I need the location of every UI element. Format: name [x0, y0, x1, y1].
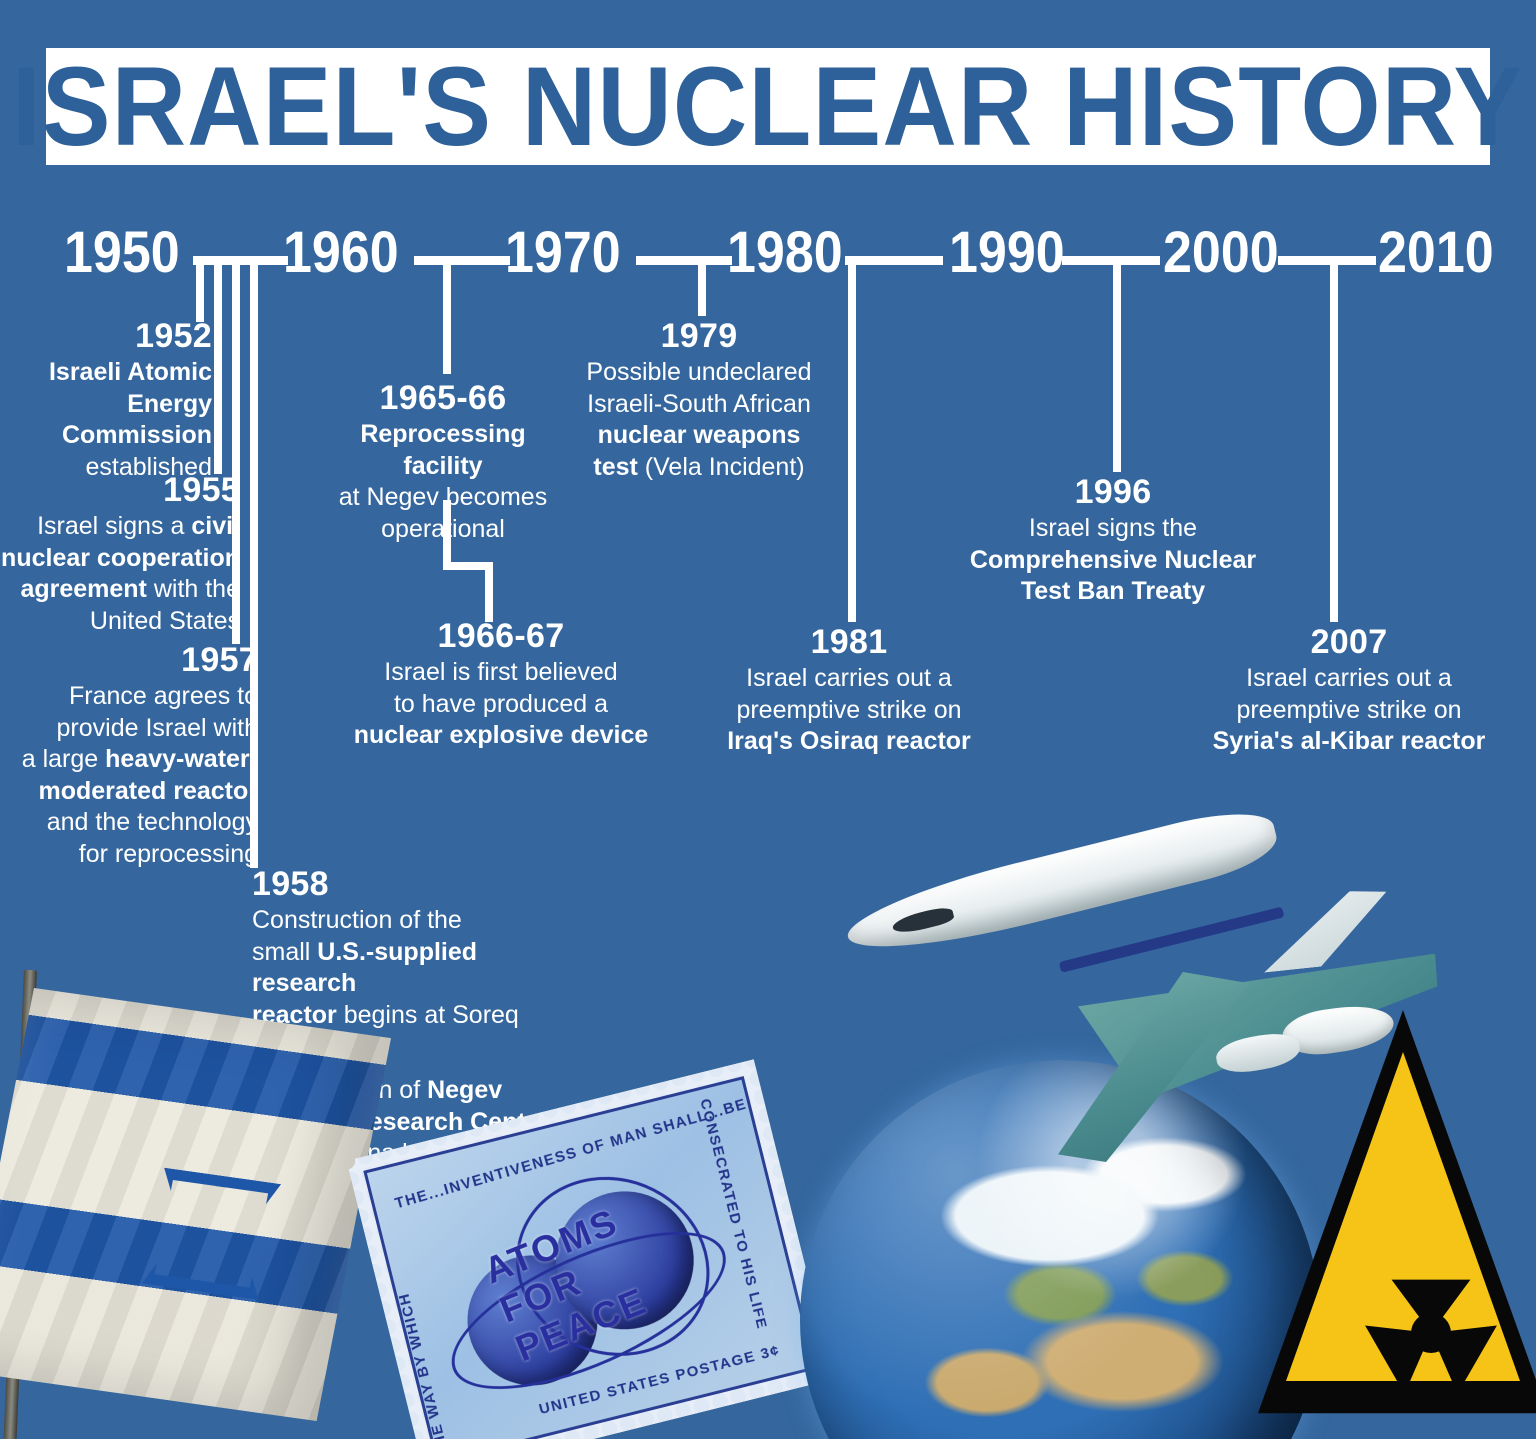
event-1981-desc: Israel carries out a preemptive strike o…	[722, 663, 976, 758]
event-1996-l1: Israel signs the	[1029, 514, 1197, 542]
event-1981-l3: Iraq's Osiraq reactor	[727, 727, 971, 755]
event-1955-desc: Israel signs a civil nuclear cooperation…	[0, 511, 240, 637]
jet-fuselage	[841, 800, 1283, 967]
event-2007-year: 2007	[1204, 622, 1494, 662]
event-1996: 1996 Israel signs the Comprehensive Nucl…	[962, 472, 1264, 608]
event-1955: 1955 Israel signs a civil nuclear cooper…	[0, 470, 240, 637]
axis-year-1950: 1950	[64, 224, 180, 282]
event-1957-l3-bold: heavy-water-	[105, 745, 258, 773]
event-1955-l4: United States	[90, 607, 240, 635]
axis-year-1980: 1980	[727, 224, 843, 282]
drop-line-1996	[1113, 256, 1121, 472]
star-of-david-icon	[134, 1156, 271, 1286]
event-1957-l4: moderated reactor	[38, 777, 258, 805]
event-1955-l2: nuclear cooperation	[1, 544, 240, 572]
event-1979-l4-bold: test	[593, 453, 637, 481]
event-2007: 2007 Israel carries out a preemptive str…	[1204, 622, 1494, 758]
axis-segment-1960-1970	[414, 256, 510, 265]
event-1979-l3: nuclear weapons	[598, 421, 801, 449]
event-1965-66-l3: operational	[381, 515, 505, 543]
event-1952-desc: Israeli Atomic Energy Commission establi…	[0, 357, 212, 483]
axis-segment-1990-2000	[1062, 256, 1160, 265]
radiation-warning-sign-icon	[1258, 1010, 1536, 1439]
radiation-triangle-fill	[1286, 1052, 1520, 1402]
axis-segment-1950-1960	[193, 256, 288, 265]
event-1958-p2-l1-bold: Negev	[427, 1076, 502, 1104]
infographic-canvas: ISRAEL'S NUCLEAR HISTORY 1950 1960 1970 …	[0, 0, 1536, 1439]
drop-line-2007	[1330, 256, 1338, 622]
event-1996-desc: Israel signs the Comprehensive Nuclear T…	[962, 513, 1264, 608]
axis-year-1960: 1960	[283, 224, 399, 282]
event-1952-year: 1952	[0, 316, 212, 356]
event-1996-year: 1996	[962, 472, 1264, 512]
axis-year-2000: 2000	[1163, 224, 1279, 282]
event-1981-year: 1981	[722, 622, 976, 662]
event-1952-line1: Israeli Atomic	[49, 358, 212, 386]
event-1955-l1-plain: Israel signs a	[37, 512, 191, 540]
event-1979-l2: Israeli-South African	[587, 390, 811, 418]
event-2007-l1: Israel carries out a	[1246, 664, 1452, 692]
event-1996-l2: Comprehensive Nuclear	[970, 546, 1256, 574]
event-1979-l1: Possible undeclared	[586, 358, 811, 386]
event-2007-desc: Israel carries out a preemptive strike o…	[1204, 663, 1494, 758]
event-1955-l3-bold: agreement	[20, 575, 146, 603]
event-1952: 1952 Israeli Atomic Energy Commission es…	[0, 316, 212, 483]
axis-year-1990: 1990	[949, 224, 1065, 282]
event-1958-l1: Construction of the	[252, 906, 462, 934]
event-1966-67-l3: nuclear explosive device	[354, 721, 649, 749]
trefoil-hub	[1411, 1313, 1451, 1353]
event-1952-line2: Energy Commission	[62, 390, 212, 450]
event-1958-year: 1958	[252, 864, 582, 904]
drop-line-1979	[698, 256, 706, 316]
drop-line-1965	[443, 256, 451, 374]
axis-segment-2000-2010	[1278, 256, 1376, 265]
event-1957-l5: and the technology	[47, 808, 258, 836]
event-1966-67-l1: Israel is first believed	[384, 658, 617, 686]
event-1966-67-year: 1966-67	[348, 616, 654, 656]
event-1966-67-desc: Israel is first believed to have produce…	[348, 657, 654, 752]
flag-cloth	[0, 988, 391, 1421]
event-2007-l2: preemptive strike on	[1236, 696, 1461, 724]
event-1979-year: 1979	[580, 316, 818, 356]
axis-segment-1970-1980	[636, 256, 732, 265]
event-1965-66-l2: at Negev becomes	[339, 483, 547, 511]
jet-tailplane	[1257, 887, 1394, 972]
axis-year-1970: 1970	[505, 224, 621, 282]
axis-year-2010: 2010	[1378, 224, 1494, 282]
event-1981: 1981 Israel carries out a preemptive str…	[722, 622, 976, 758]
event-1966-67: 1966-67 Israel is first believed to have…	[348, 616, 654, 752]
event-1965-66-desc: Reprocessing facility at Negev becomes o…	[318, 419, 568, 545]
event-1957-l2: provide Israel with	[57, 714, 258, 742]
event-1957-year: 1957	[0, 640, 258, 680]
event-1955-l1-bold: civil	[191, 512, 240, 540]
event-1955-l3-plain: with the	[147, 575, 240, 603]
star-triangles	[134, 1156, 271, 1286]
event-1979-l4-plain: (Vela Incident)	[638, 453, 805, 481]
event-1979-desc: Possible undeclared Israeli-South Africa…	[580, 357, 818, 483]
event-1957-l1: France agrees to	[69, 682, 258, 710]
jet-livery-stripe	[1059, 907, 1285, 973]
event-2007-l3: Syria's al-Kibar reactor	[1213, 727, 1486, 755]
event-1965-66: 1965-66 Reprocessing facility at Negev b…	[318, 378, 568, 545]
axis-segment-1980-1990	[845, 256, 943, 265]
event-1957-l3-plain: a large	[22, 745, 105, 773]
event-1966-67-l2: to have produced a	[394, 690, 608, 718]
drop-line-1952	[196, 256, 204, 322]
event-1955-year: 1955	[0, 470, 240, 510]
drop-line-1981	[848, 256, 856, 622]
event-1981-l1: Israel carries out a	[746, 664, 952, 692]
event-1965-66-year: 1965-66	[318, 378, 568, 418]
event-1957-desc: France agrees to provide Israel with a l…	[0, 681, 258, 870]
drop-line-1955	[214, 256, 222, 474]
event-1957: 1957 France agrees to provide Israel wit…	[0, 640, 258, 870]
event-1965-66-l1: Reprocessing facility	[360, 420, 525, 480]
step-connector-vertical-lower	[485, 562, 493, 622]
radiation-trefoil-icon	[1382, 1284, 1480, 1382]
event-1981-l2: preemptive strike on	[736, 696, 961, 724]
event-1979: 1979 Possible undeclared Israeli-South A…	[580, 316, 818, 483]
timeline-axis: 1950 1960 1970 1980 1990 2000 2010	[0, 0, 1536, 300]
event-1957-l6: for reprocessing	[79, 840, 258, 868]
event-1996-l3: Test Ban Treaty	[1021, 577, 1205, 605]
